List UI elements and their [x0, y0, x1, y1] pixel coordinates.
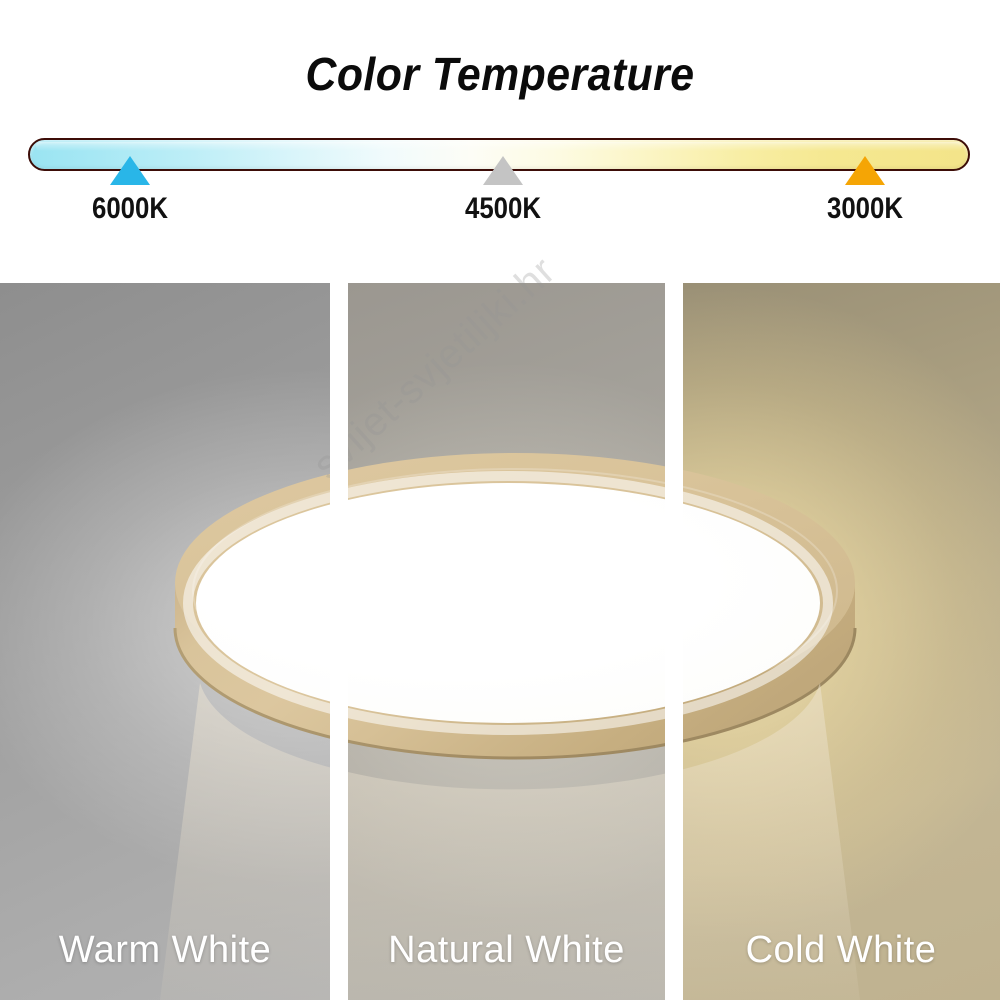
kelvin-label-3000k: 3000K	[788, 192, 943, 226]
kelvin-scale: 6000K 4500K 3000K	[0, 0, 1000, 260]
panel-cold-white	[682, 283, 1000, 1000]
triangle-up-marker-icon-3000k	[845, 156, 885, 185]
panel-divider-1	[330, 283, 348, 1000]
color-temperature-infographic: Color Temperature 6000K 4500K 3000K	[0, 0, 1000, 1000]
triangle-up-marker-icon-4500k	[483, 156, 523, 185]
panel-cold-white-wash	[682, 283, 1000, 1000]
panel-caption-cold-white: Cold White	[682, 929, 1000, 972]
kelvin-label-4500k: 4500K	[426, 192, 581, 226]
panel-caption-natural-white: Natural White	[348, 929, 665, 972]
panel-caption-warm-white: Warm White	[0, 929, 330, 972]
panel-warm-white-wash	[0, 283, 330, 1000]
panel-warm-white	[0, 283, 330, 1000]
panel-comparison-strip	[0, 283, 1000, 1000]
panel-natural-white-wash	[348, 283, 665, 1000]
panel-natural-white	[348, 283, 665, 1000]
panel-divider-2	[665, 283, 683, 1000]
kelvin-label-6000k: 6000K	[53, 192, 208, 226]
triangle-up-marker-icon-6000k	[110, 156, 150, 185]
